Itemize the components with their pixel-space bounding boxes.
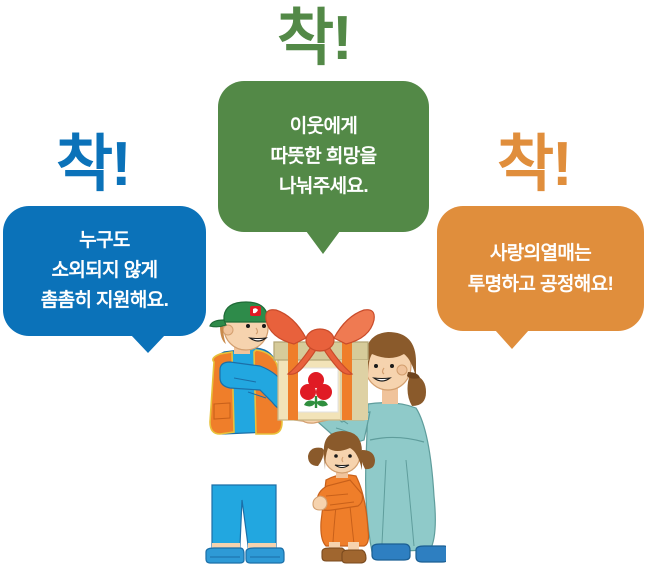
bubble-orange-line-1: 사랑의열매는 [468, 238, 613, 269]
speech-bubble-blue-tail [131, 335, 165, 353]
shout-text-green: 착! [277, 8, 351, 70]
child-girl-figure [308, 431, 375, 563]
bubble-green-line-1: 이웃에게 [271, 112, 377, 142]
speech-bubble-blue[interactable]: 누구도 소외되지 않게 촘촘히 지원해요. [3, 206, 206, 336]
bubble-blue-line-3: 촘촘히 지원해요. [41, 286, 169, 316]
speech-bubble-green[interactable]: 이웃에게 따뜻한 희망을 나눠주세요. [218, 81, 429, 232]
bubble-green-line-2: 따뜻한 희망을 [271, 142, 377, 172]
campaign-poster: 착! 누구도 소외되지 않게 촘촘히 지원해요. 착! 이웃에게 따뜻한 희망을… [0, 0, 646, 568]
speech-bubble-orange[interactable]: 사랑의열매는 투명하고 공정해요! [437, 206, 644, 331]
volunteer-man-figure [206, 302, 322, 563]
speech-bubble-green-tail [306, 231, 340, 254]
bubble-blue-lines: 누구도 소외되지 않게 촘촘히 지원해요. [41, 226, 169, 316]
gift-handover-illustration [190, 300, 446, 568]
bubble-blue-line-2: 소외되지 않게 [41, 256, 169, 286]
bubble-blue-line-1: 누구도 [41, 226, 169, 256]
shout-text-blue: 착! [56, 134, 130, 196]
bubble-green-line-3: 나눠주세요. [271, 172, 377, 202]
bubble-green-lines: 이웃에게 따뜻한 희망을 나눠주세요. [271, 112, 377, 202]
shout-text-orange: 착! [497, 134, 571, 196]
speech-bubble-orange-tail [495, 330, 529, 349]
gift-box [266, 310, 375, 420]
bubble-orange-line-2: 투명하고 공정해요! [468, 269, 613, 300]
bubble-orange-lines: 사랑의열매는 투명하고 공정해요! [468, 238, 613, 300]
